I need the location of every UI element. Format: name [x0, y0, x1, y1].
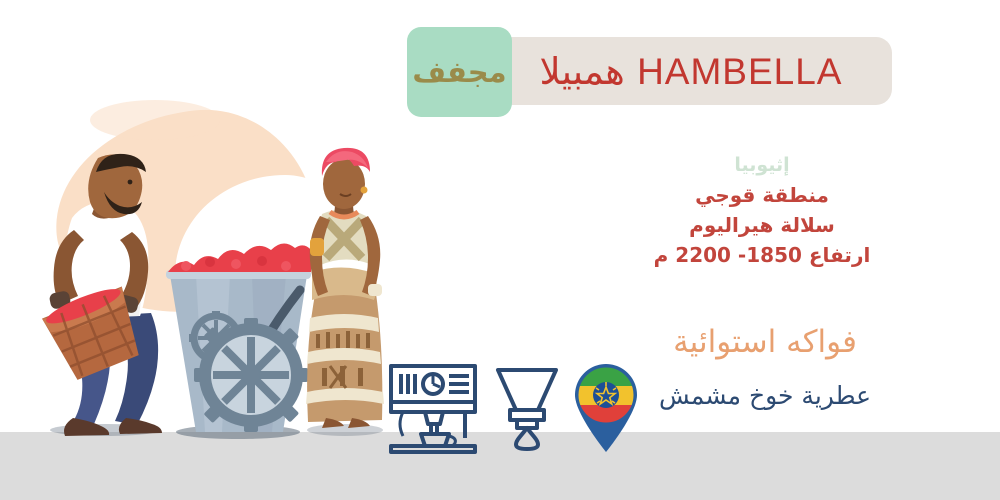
title-latin: HAMBELLA	[637, 51, 842, 92]
process-badge: مجفف	[407, 27, 512, 117]
pour-over-dripper-icon[interactable]	[493, 358, 561, 454]
flavour-notes: عطرية خوخ مشمش	[620, 378, 910, 413]
title-banner: HAMBELLA همبيلا	[490, 37, 892, 105]
coffee-variety: سلالة هيراليوم	[632, 210, 892, 240]
coffee-cherry-hopper-cart	[166, 243, 311, 439]
title-banner-text: HAMBELLA همبيلا	[540, 50, 843, 93]
altitude-range: ارتفاع 1850- 2200 م	[632, 240, 892, 270]
process-badge-label: مجفف	[412, 55, 506, 89]
ethiopia-flag-map-pin-icon[interactable]	[573, 362, 639, 454]
espresso-machine-icon[interactable]	[385, 358, 481, 454]
woman-in-traditional-dress	[306, 148, 384, 436]
origin-country: إثيوبيا	[632, 152, 892, 180]
flavour-block: فواكه استوائية عطرية خوخ مشمش	[620, 322, 910, 413]
origin-region: منطقة قوجي	[632, 180, 892, 210]
title-arabic: همبيلا	[540, 50, 625, 93]
brew-method-icon-row	[385, 358, 639, 454]
coffee-label-card: مجفف HAMBELLA همبيلا إثيوبيا منطقة قوجي …	[0, 0, 1000, 500]
origin-info-block: إثيوبيا منطقة قوجي سلالة هيراليوم ارتفاع…	[632, 152, 892, 270]
farmer-carrying-basket	[40, 154, 162, 436]
flavour-headline: فواكه استوائية	[620, 322, 910, 362]
